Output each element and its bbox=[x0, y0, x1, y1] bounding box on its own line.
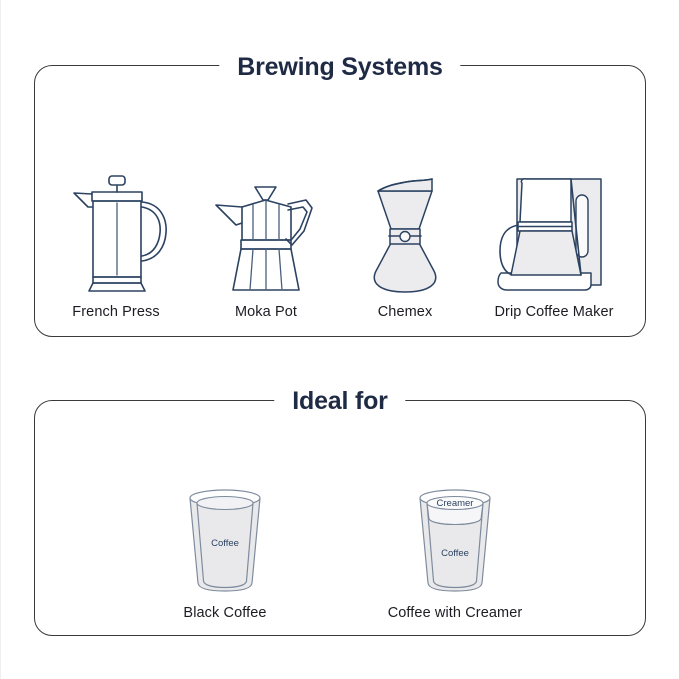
chemex-icon bbox=[362, 167, 448, 295]
item-label-moka-pot: Moka Pot bbox=[235, 304, 297, 320]
glass-coffee-creamer-icon: Creamer Coffee bbox=[407, 480, 503, 596]
item-coffee-with-creamer[interactable]: Creamer Coffee Coffee with Creamer bbox=[340, 480, 570, 621]
moka-pot-figure bbox=[208, 167, 324, 295]
chemex-figure bbox=[362, 167, 448, 295]
brewing-systems-items: French Press bbox=[34, 120, 646, 320]
item-chemex[interactable]: Chemex bbox=[341, 167, 469, 320]
section-ideal-for: Ideal for Coffee Black Coffee bbox=[34, 386, 646, 636]
glass-layer-label-coffee: Coffee bbox=[211, 538, 239, 549]
item-label-french-press: French Press bbox=[72, 304, 159, 320]
item-moka-pot[interactable]: Moka Pot bbox=[191, 167, 341, 320]
item-label-chemex: Chemex bbox=[378, 304, 433, 320]
black-coffee-figure: Coffee bbox=[177, 480, 273, 596]
item-black-coffee[interactable]: Coffee Black Coffee bbox=[110, 480, 340, 621]
french-press-figure bbox=[62, 167, 170, 295]
drip-coffee-maker-icon bbox=[487, 167, 621, 295]
glass-layer-label-creamer: Creamer bbox=[437, 498, 474, 509]
ideal-for-title: Ideal for bbox=[274, 386, 405, 416]
coffee-creamer-figure: Creamer Coffee bbox=[407, 480, 503, 596]
french-press-icon bbox=[62, 167, 170, 295]
ideal-for-items: Coffee Black Coffee bbox=[34, 446, 646, 621]
item-label-drip-coffee-maker: Drip Coffee Maker bbox=[494, 304, 613, 320]
brewing-systems-title: Brewing Systems bbox=[219, 52, 460, 82]
item-drip-coffee-maker[interactable]: Drip Coffee Maker bbox=[469, 167, 639, 320]
glass-layer-label-coffee: Coffee bbox=[441, 548, 469, 559]
item-label-coffee-with-creamer: Coffee with Creamer bbox=[388, 605, 523, 621]
infographic-page: Brewing Systems bbox=[0, 0, 679, 679]
drip-coffee-maker-figure bbox=[487, 167, 621, 295]
moka-pot-icon bbox=[208, 167, 324, 295]
glass-black-coffee-icon: Coffee bbox=[177, 480, 273, 596]
section-brewing-systems: Brewing Systems bbox=[34, 52, 646, 337]
item-label-black-coffee: Black Coffee bbox=[183, 605, 266, 621]
item-french-press[interactable]: French Press bbox=[41, 167, 191, 320]
